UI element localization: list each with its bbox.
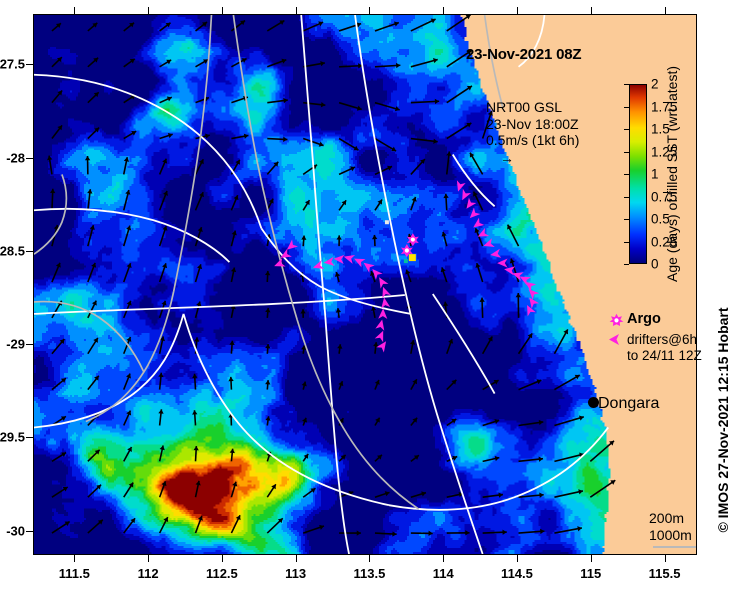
drifter-arrow-icon xyxy=(605,332,627,346)
drifter-position-marker xyxy=(523,303,536,316)
x-axis-label: 115 xyxy=(580,566,601,581)
y-axis-label: -28 xyxy=(0,150,25,165)
legend-drifters-line-1: drifters@6h xyxy=(627,332,702,348)
x-axis-label: 114.5 xyxy=(501,566,533,581)
sst-pixel-marker xyxy=(409,254,416,261)
x-tick xyxy=(369,555,370,562)
legend-label-argo: Argo xyxy=(627,312,661,328)
bathymetry-contour-200m xyxy=(389,427,608,509)
map-plot-area[interactable]: 23-Nov-2021 08Z NRT00 GSL 23-Nov 18:00Z … xyxy=(33,14,697,555)
colorbar-tick xyxy=(624,242,629,243)
x-tick xyxy=(222,555,223,562)
sst-pixel-marker xyxy=(385,220,389,224)
map-legend: Argo drifters@6h to 24/11 12Z xyxy=(605,312,702,363)
current-source-annotation: NRT00 GSL 23-Nov 18:00Z 0.5m/s (1kt 6h) … xyxy=(486,99,579,166)
depth-contour-key: 200m 1000m xyxy=(649,510,697,548)
colorbar-tick xyxy=(624,84,629,85)
x-tick xyxy=(148,555,149,562)
bathymetry-contour-1000m xyxy=(233,15,297,320)
x-tick-top xyxy=(443,7,444,14)
sst-pixel-marker xyxy=(404,259,408,263)
bathymetry-contour-200m xyxy=(433,294,495,394)
bathymetry-contour-200m xyxy=(301,15,349,554)
x-axis-label: 114 xyxy=(433,566,454,581)
x-tick xyxy=(296,555,297,562)
dongara-label: Dongara xyxy=(598,395,659,413)
annotation-line-1: NRT00 GSL xyxy=(486,99,579,116)
x-tick-top xyxy=(148,7,149,14)
colorbar-tick xyxy=(624,197,629,198)
drifter-position-marker xyxy=(378,308,388,319)
depth-label-200m: 200m xyxy=(649,510,697,527)
y-tick xyxy=(26,531,33,532)
bathymetry-contour-1000m xyxy=(34,302,144,372)
y-tick xyxy=(26,344,33,345)
drifter-position-marker xyxy=(375,275,388,289)
x-tick xyxy=(443,555,444,562)
drifter-position-marker xyxy=(343,252,355,264)
colorbar: 00.250.50.7511.251.51.752 xyxy=(629,84,647,264)
colorbar-tick-label: 0 xyxy=(651,257,659,272)
x-axis-label: 113 xyxy=(285,566,306,581)
drifter-position-marker xyxy=(323,257,335,267)
legend-drifters-line-2: to 24/11 12Z xyxy=(627,348,702,364)
drifter-position-marker xyxy=(497,258,507,267)
x-tick xyxy=(591,555,592,562)
x-axis-label: 113.5 xyxy=(354,566,386,581)
drifter-position-marker xyxy=(525,286,539,300)
drifter-position-marker xyxy=(375,318,386,330)
y-axis-label: -28.5 xyxy=(0,243,25,258)
scale-arrow-icon: → xyxy=(500,150,579,167)
y-tick xyxy=(26,64,33,65)
colorbar-tick-label: 2 xyxy=(651,77,659,92)
x-tick-top xyxy=(665,7,666,14)
x-tick-top xyxy=(369,7,370,14)
x-axis-label: 111.5 xyxy=(59,566,90,581)
map-overlays xyxy=(34,15,696,554)
argo-marker-icon xyxy=(605,312,627,328)
x-tick-top xyxy=(591,7,592,14)
y-axis-label: -29 xyxy=(0,337,25,352)
colorbar-tick xyxy=(624,152,629,153)
bathymetry-contour-200m xyxy=(34,75,261,228)
colorbar-gradient xyxy=(629,84,647,264)
colorbar-title: Age (days) of filled SST (wrt latest) xyxy=(664,66,680,282)
drifter-position-marker xyxy=(352,255,365,268)
drifter-position-marker xyxy=(375,329,388,342)
drifter-position-marker xyxy=(476,228,489,241)
drifter-position-marker xyxy=(312,260,325,272)
y-axis-label: -27.5 xyxy=(0,57,25,72)
bathymetry-contour-200m xyxy=(34,314,184,428)
colorbar-tick-label: 1 xyxy=(651,167,659,182)
y-tick xyxy=(26,251,33,252)
colorbar-tick xyxy=(624,264,629,265)
y-tick xyxy=(26,437,33,438)
bathymetry-contour-200m xyxy=(355,15,483,554)
drifter-position-marker xyxy=(471,218,485,232)
bathymetry-contour-200m xyxy=(184,314,389,505)
bathymetry-contour-1000m xyxy=(174,15,212,292)
x-axis-label: 112.5 xyxy=(206,566,238,581)
depth-label-1000m: 1000m xyxy=(649,527,697,544)
y-axis-label: -30 xyxy=(0,523,25,538)
x-tick xyxy=(665,555,666,562)
drifter-position-marker xyxy=(333,254,344,264)
x-axis-label: 112 xyxy=(138,566,159,581)
colorbar-tick xyxy=(624,129,629,130)
bathymetry-contour-1000m xyxy=(34,174,66,254)
annotation-line-2: 23-Nov 18:00Z xyxy=(486,116,579,133)
colorbar-tick xyxy=(624,219,629,220)
legend-label-drifters: drifters@6h to 24/11 12Z xyxy=(627,332,702,363)
y-axis-label: -29.5 xyxy=(0,430,25,445)
argo-float-marker xyxy=(407,233,419,246)
colorbar-tick xyxy=(624,107,629,108)
legend-item-argo: Argo xyxy=(605,312,702,328)
drifter-position-marker xyxy=(369,266,383,280)
annotation-line-3: 0.5m/s (1kt 6h) xyxy=(486,132,579,149)
drifter-position-marker xyxy=(361,259,375,273)
colorbar-tick xyxy=(624,174,629,175)
legend-item-drifters: drifters@6h to 24/11 12Z xyxy=(605,332,702,363)
x-tick-top xyxy=(222,7,223,14)
x-tick-top xyxy=(74,7,75,14)
drifter-position-marker xyxy=(482,238,495,250)
map-title: 23-Nov-2021 08Z xyxy=(466,46,581,63)
x-axis-label: 115.5 xyxy=(649,566,681,581)
x-tick-top xyxy=(517,7,518,14)
copyright-credit: © IMOS 27-Nov-2021 12:15 Hobart xyxy=(715,307,731,532)
depth-key-rule xyxy=(653,546,697,548)
x-tick xyxy=(74,555,75,562)
y-tick xyxy=(26,158,33,159)
x-tick xyxy=(517,555,518,562)
drifter-position-marker xyxy=(489,249,501,260)
drifter-position-marker xyxy=(272,258,285,270)
x-tick-top xyxy=(296,7,297,14)
